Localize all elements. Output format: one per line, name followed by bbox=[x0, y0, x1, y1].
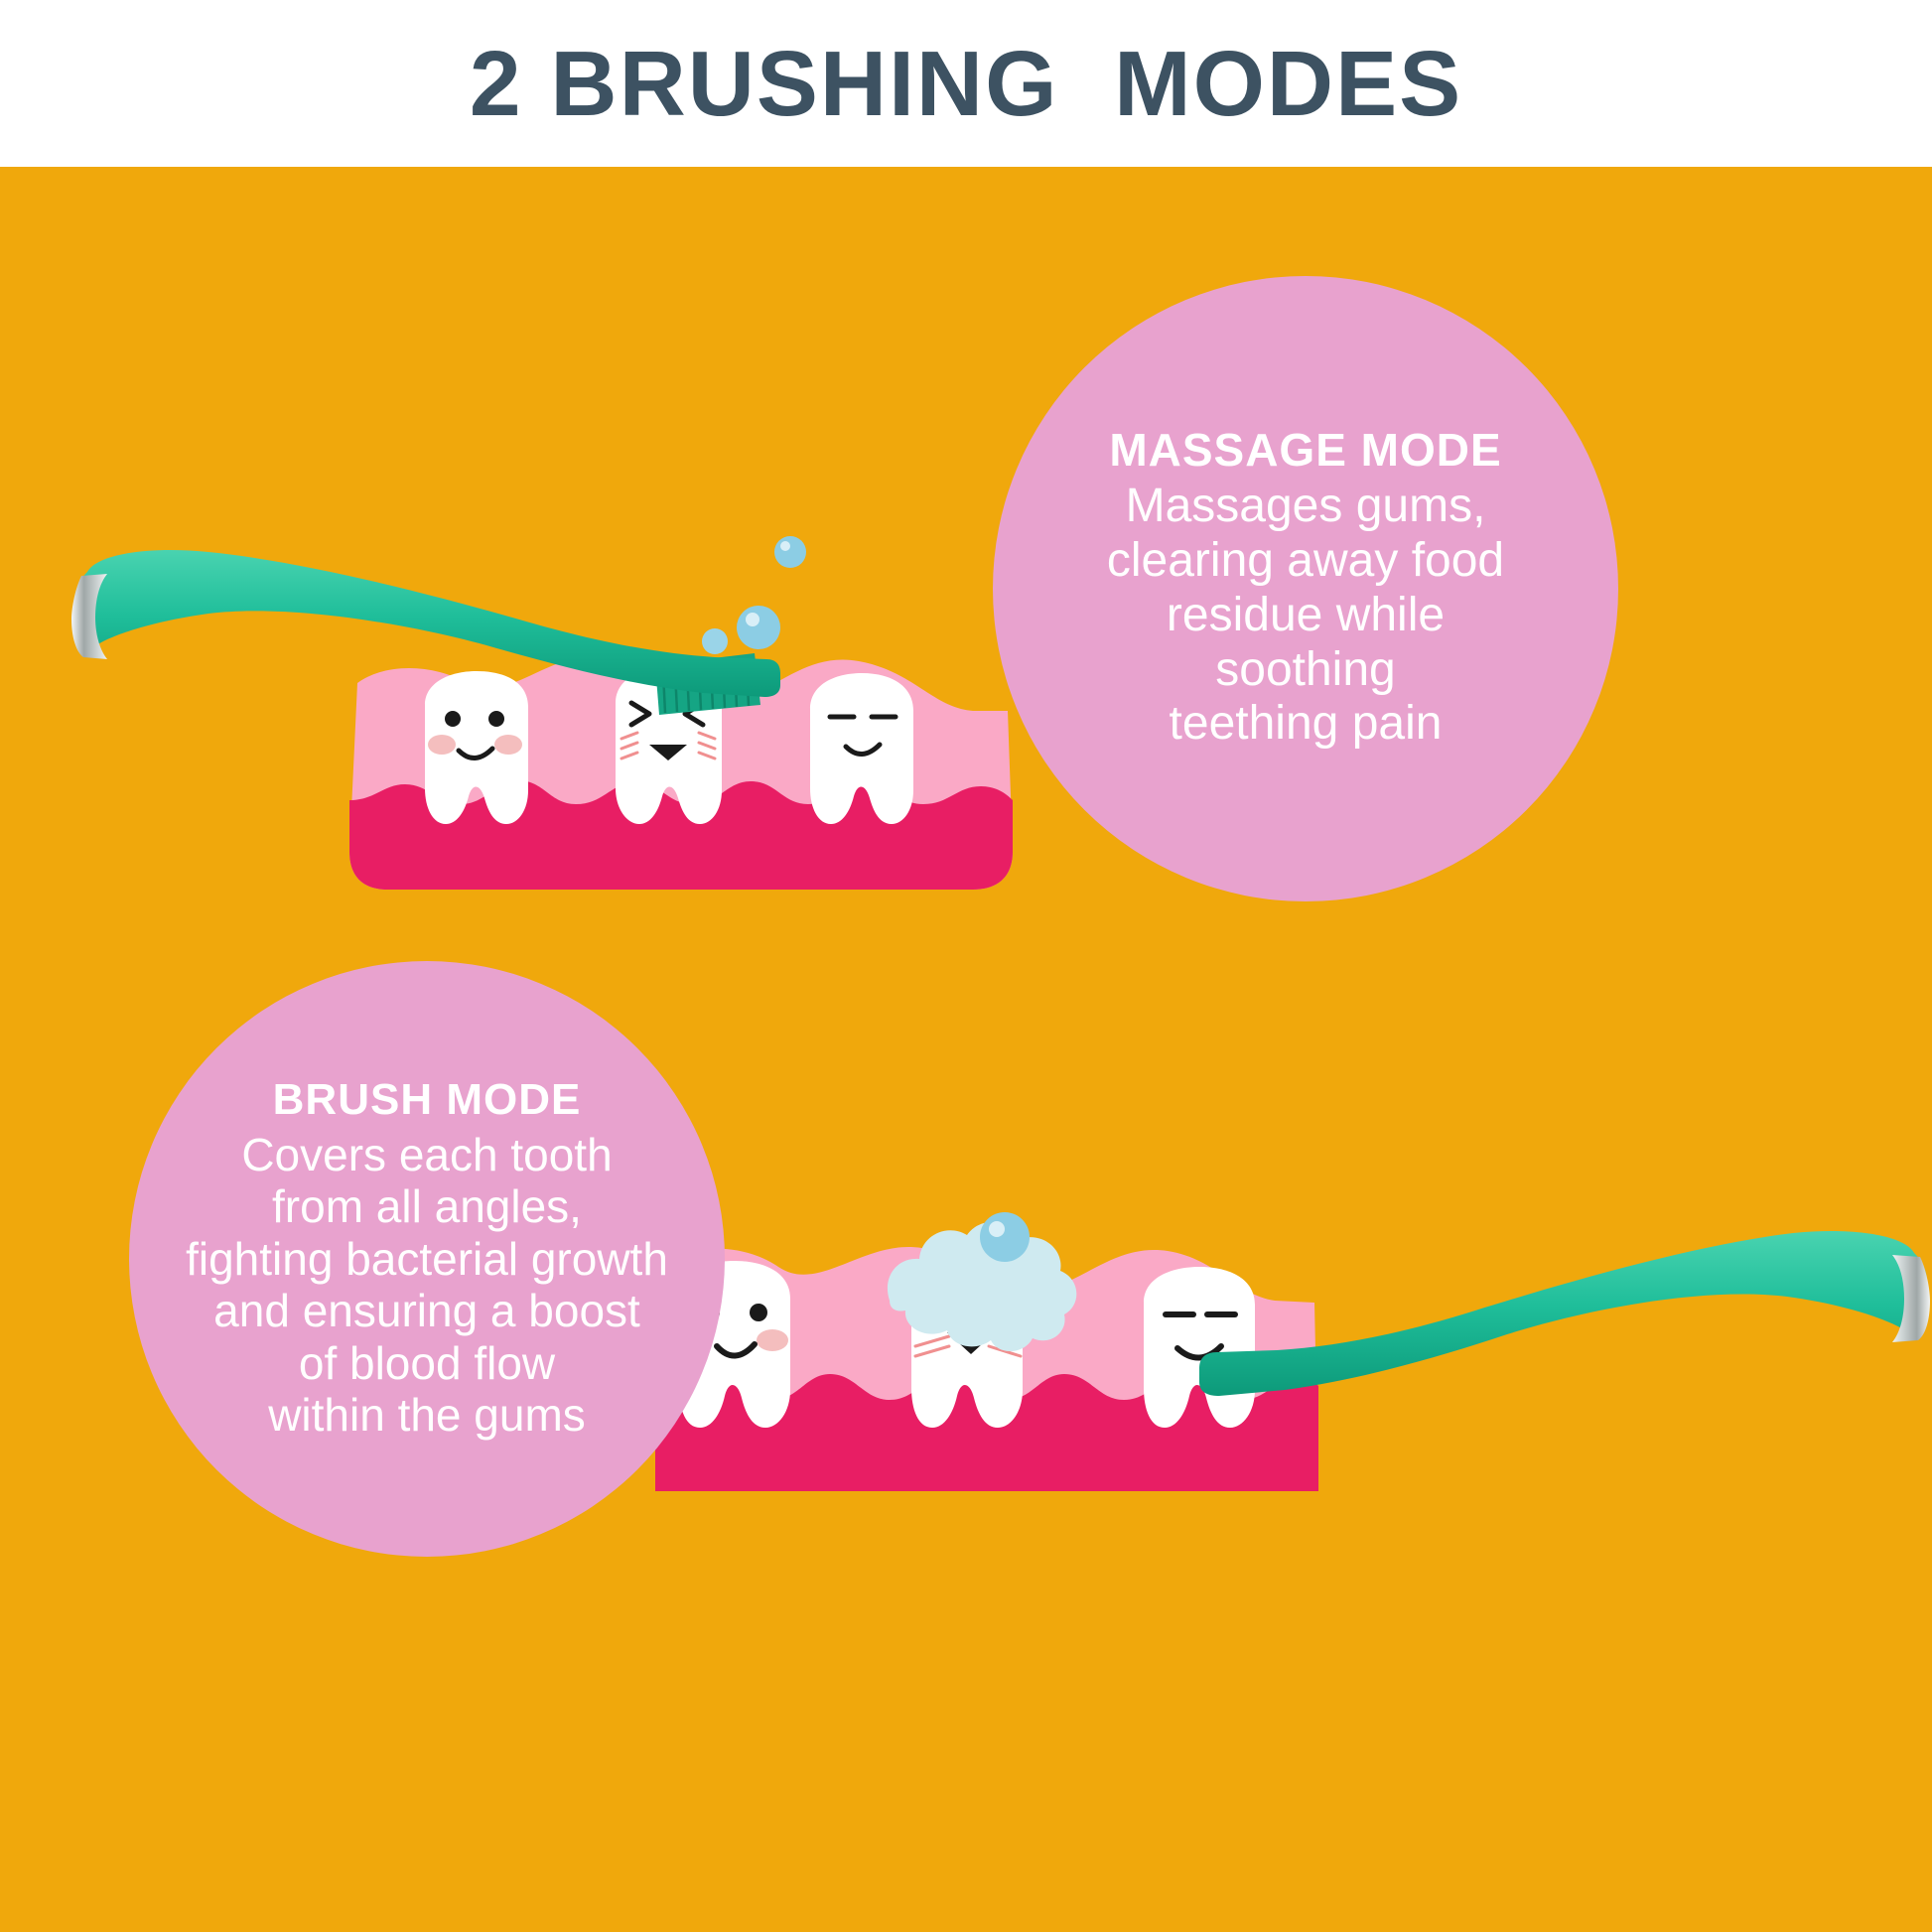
header-band: 2 BRUSHING MODES bbox=[0, 0, 1932, 167]
bristles bbox=[860, 1225, 959, 1285]
page-title: 2 BRUSHING MODES bbox=[470, 38, 1462, 130]
massage-mode-illustration bbox=[60, 534, 1062, 1011]
brush-mode-bubble: BRUSH MODE Covers each tooth from all an… bbox=[129, 961, 725, 1557]
massage-mode-title: MASSAGE MODE bbox=[1109, 426, 1501, 474]
cheek-blush bbox=[428, 735, 456, 755]
eye bbox=[750, 1304, 767, 1321]
massage-mode-body: Massages gums, clearing away food residu… bbox=[1107, 480, 1504, 752]
droplet bbox=[737, 606, 780, 649]
droplet bbox=[702, 628, 728, 654]
brush-mode-body: Covers each tooth from all angles, fight… bbox=[186, 1129, 668, 1442]
brush-mode-title: BRUSH MODE bbox=[273, 1077, 582, 1123]
massage-mode-bubble: MASSAGE MODE Massages gums, clearing awa… bbox=[993, 276, 1618, 901]
cheek-blush bbox=[494, 735, 522, 755]
eye bbox=[488, 711, 504, 727]
infographic-page: 2 BRUSHING MODES bbox=[0, 0, 1932, 1932]
water-droplets-top bbox=[702, 536, 806, 654]
eye bbox=[445, 711, 461, 727]
yellow-stage: MASSAGE MODE Massages gums, clearing awa… bbox=[0, 167, 1932, 1932]
cheek-blush bbox=[757, 1329, 788, 1351]
droplet bbox=[980, 1212, 1030, 1262]
droplet bbox=[774, 536, 806, 568]
brush-mode-illustration bbox=[655, 1080, 1932, 1606]
